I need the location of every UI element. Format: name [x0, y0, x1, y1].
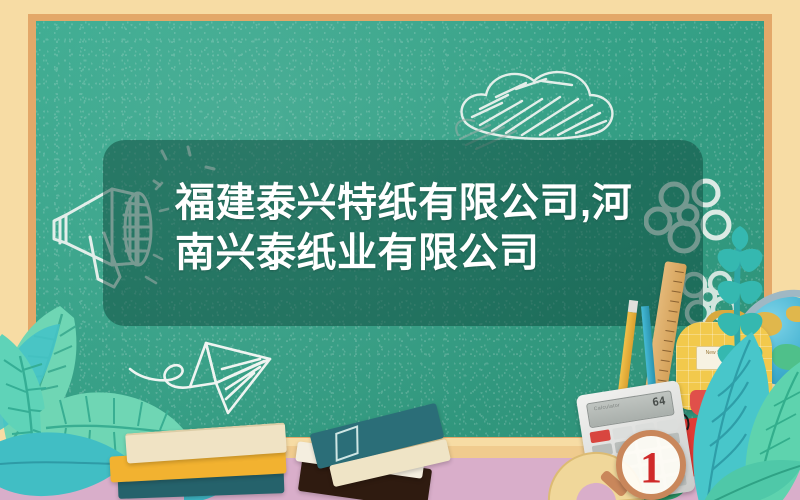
magnifier: 1 — [616, 430, 686, 500]
magnifier-lens: 1 — [616, 430, 686, 500]
banner-image: 福建泰兴特纸有限公司,河南兴泰纸业有限公司 — [0, 0, 800, 500]
magnifier-number: 1 — [622, 440, 680, 496]
calculator-brand: Calculator — [593, 402, 620, 412]
calculator-display-value: 64 — [651, 394, 666, 409]
page-title: 福建泰兴特纸有限公司,河南兴泰纸业有限公司 — [175, 178, 635, 278]
leaves-icon — [700, 452, 800, 500]
